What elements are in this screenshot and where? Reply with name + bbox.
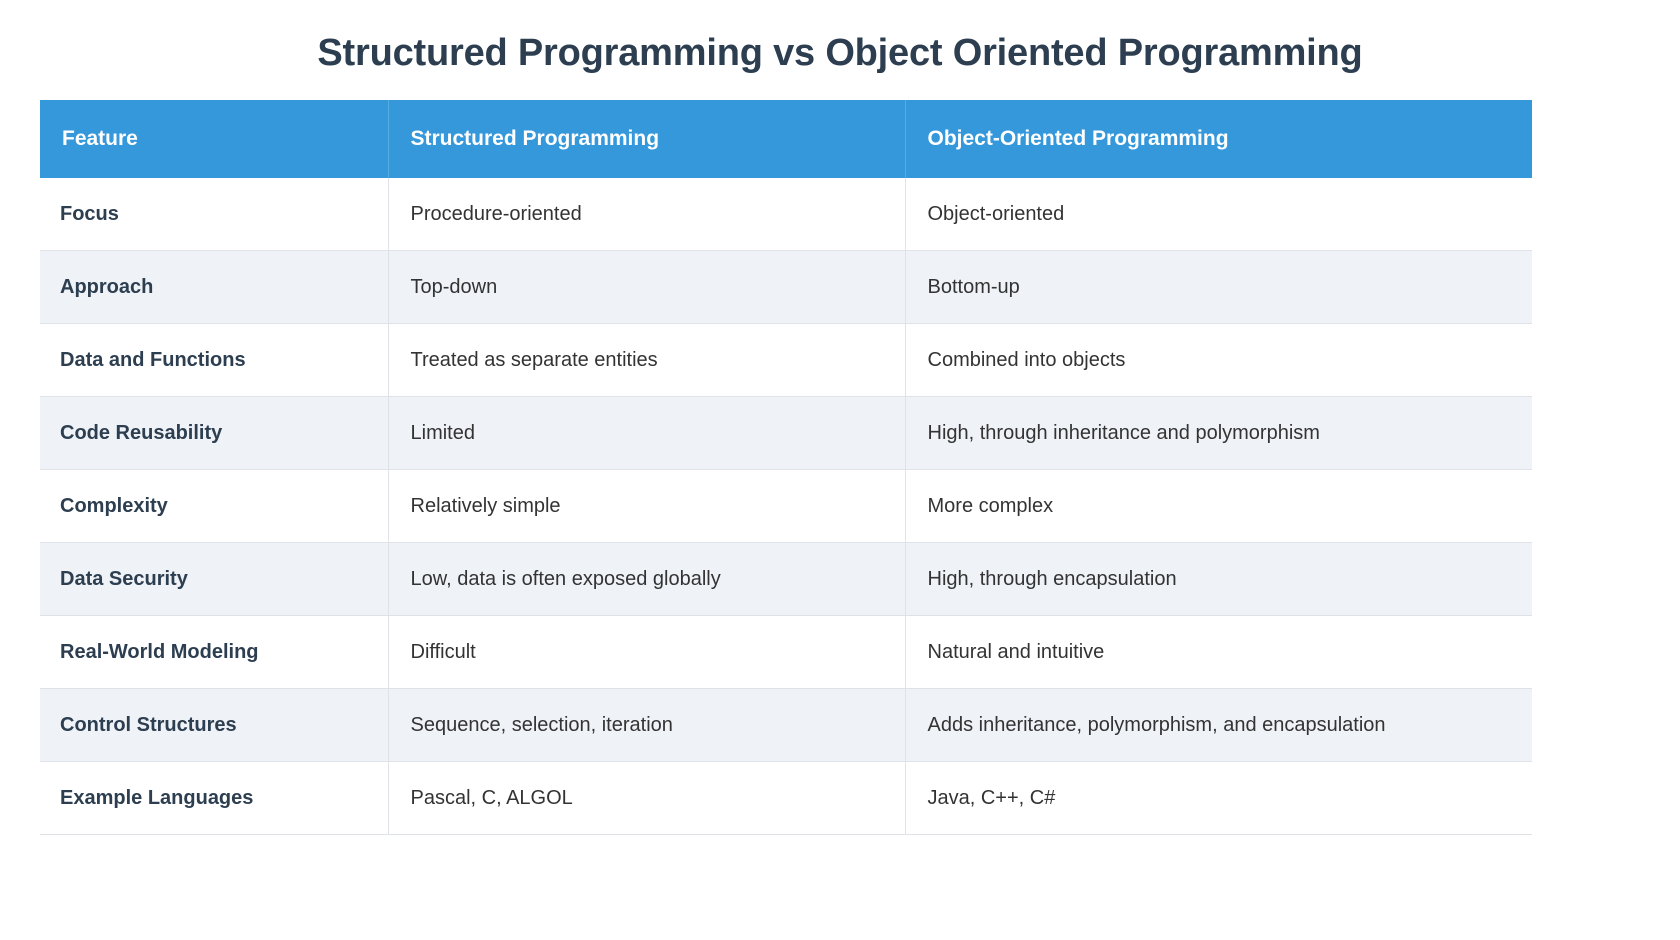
cell-oop: Combined into objects xyxy=(905,324,1532,397)
table-row: Data and Functions Treated as separate e… xyxy=(40,324,1532,397)
cell-feature: Control Structures xyxy=(40,689,388,762)
column-header-object-oriented-programming: Object-Oriented Programming xyxy=(905,100,1532,178)
cell-oop: Java, C++, C# xyxy=(905,762,1532,835)
column-header-structured-programming: Structured Programming xyxy=(388,100,905,178)
cell-oop: Bottom-up xyxy=(905,251,1532,324)
cell-oop: More complex xyxy=(905,470,1532,543)
table-body: Focus Procedure-oriented Object-oriented… xyxy=(40,178,1532,835)
table-header: Feature Structured Programming Object-Or… xyxy=(40,100,1532,178)
cell-oop: Adds inheritance, polymorphism, and enca… xyxy=(905,689,1532,762)
cell-oop: Object-oriented xyxy=(905,178,1532,251)
cell-structured: Difficult xyxy=(388,616,905,689)
cell-oop: Natural and intuitive xyxy=(905,616,1532,689)
table-row: Focus Procedure-oriented Object-oriented xyxy=(40,178,1532,251)
cell-feature: Data and Functions xyxy=(40,324,388,397)
cell-structured: Procedure-oriented xyxy=(388,178,905,251)
table-row: Example Languages Pascal, C, ALGOL Java,… xyxy=(40,762,1532,835)
comparison-table: Feature Structured Programming Object-Or… xyxy=(40,100,1532,836)
cell-feature: Code Reusability xyxy=(40,397,388,470)
table-row: Complexity Relatively simple More comple… xyxy=(40,470,1532,543)
cell-structured: Relatively simple xyxy=(388,470,905,543)
page-title: Structured Programming vs Object Oriente… xyxy=(0,0,1680,76)
cell-structured: Limited xyxy=(388,397,905,470)
table-row: Real-World Modeling Difficult Natural an… xyxy=(40,616,1532,689)
comparison-table-container: Feature Structured Programming Object-Or… xyxy=(40,100,1532,836)
cell-structured: Sequence, selection, iteration xyxy=(388,689,905,762)
table-header-row: Feature Structured Programming Object-Or… xyxy=(40,100,1532,178)
table-row: Code Reusability Limited High, through i… xyxy=(40,397,1532,470)
cell-structured: Low, data is often exposed globally xyxy=(388,543,905,616)
cell-feature: Approach xyxy=(40,251,388,324)
cell-structured: Pascal, C, ALGOL xyxy=(388,762,905,835)
cell-feature: Real-World Modeling xyxy=(40,616,388,689)
cell-structured: Treated as separate entities xyxy=(388,324,905,397)
cell-feature: Data Security xyxy=(40,543,388,616)
cell-feature: Example Languages xyxy=(40,762,388,835)
table-row: Data Security Low, data is often exposed… xyxy=(40,543,1532,616)
table-row: Control Structures Sequence, selection, … xyxy=(40,689,1532,762)
cell-feature: Focus xyxy=(40,178,388,251)
cell-feature: Complexity xyxy=(40,470,388,543)
page-root: Structured Programming vs Object Oriente… xyxy=(0,0,1680,940)
cell-oop: High, through inheritance and polymorphi… xyxy=(905,397,1532,470)
column-header-feature: Feature xyxy=(40,100,388,178)
cell-structured: Top-down xyxy=(388,251,905,324)
cell-oop: High, through encapsulation xyxy=(905,543,1532,616)
table-row: Approach Top-down Bottom-up xyxy=(40,251,1532,324)
